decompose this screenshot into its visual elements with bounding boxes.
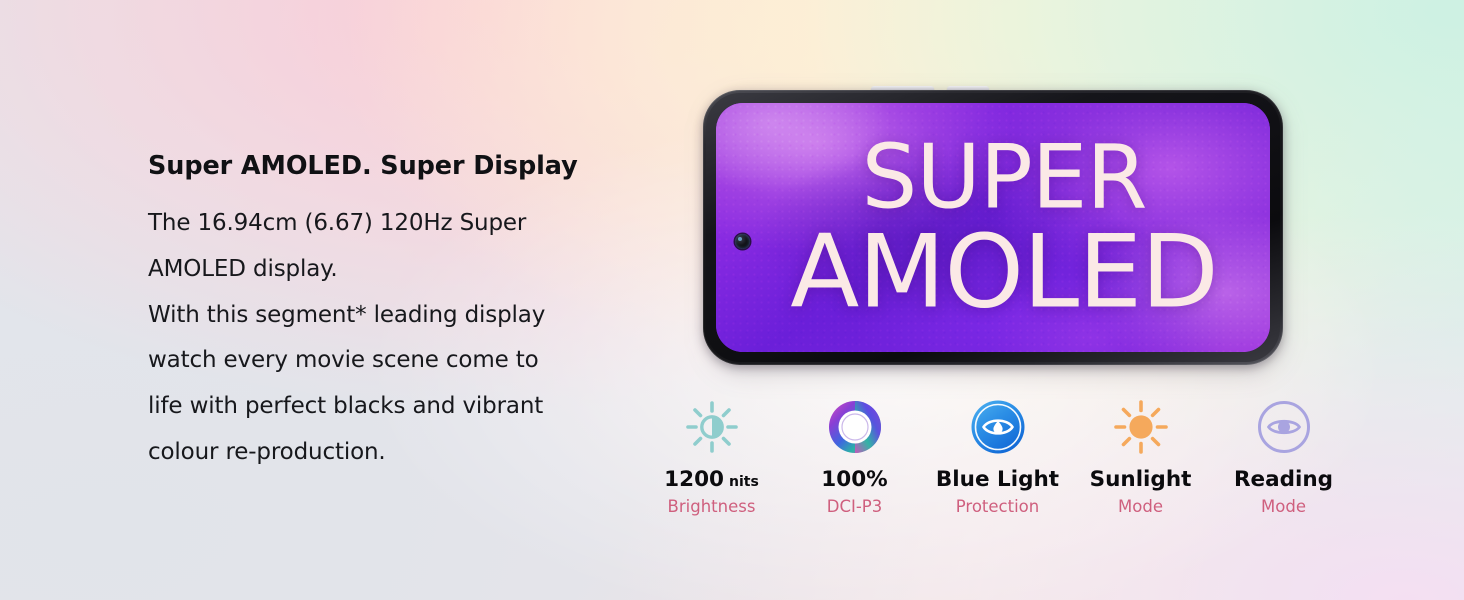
- feature-item-blue-light: Blue Light Protection: [926, 396, 1069, 515]
- body-line: watch every movie scene come to: [148, 338, 648, 384]
- screen-text-line-2: AMOLED: [738, 222, 1270, 321]
- feature-value-number: Sunlight: [1090, 469, 1192, 491]
- body-line: AMOLED display.: [148, 247, 648, 293]
- feature-item-reading: Reading Mode: [1212, 396, 1355, 515]
- feature-item-dci-p3: 100% DCI-P3: [783, 396, 926, 515]
- page-title: Super AMOLED. Super Display: [148, 152, 648, 180]
- feature-label: Protection: [956, 499, 1039, 516]
- banner-root: Super AMOLED. Super Display The 16.94cm …: [0, 0, 1464, 600]
- phone-chassis: SUPER AMOLED: [703, 90, 1283, 365]
- feature-label: Mode: [1261, 499, 1306, 516]
- brightness-sun-icon: [683, 396, 741, 458]
- feature-value: 1200 nits: [664, 469, 759, 491]
- feature-value-number: Reading: [1234, 469, 1333, 491]
- feature-label: Mode: [1118, 499, 1163, 516]
- feature-item-sunlight: Sunlight Mode: [1069, 396, 1212, 515]
- phone-bezel: SUPER AMOLED: [706, 93, 1280, 362]
- screen-text-line-1: SUPER: [738, 134, 1270, 220]
- blue-light-eye-icon: [970, 396, 1026, 458]
- phone-screen: SUPER AMOLED: [716, 103, 1270, 352]
- reading-eye-icon: [1256, 396, 1312, 458]
- body-line: colour re-production.: [148, 430, 648, 476]
- feature-item-brightness: 1200 nits Brightness: [640, 396, 783, 515]
- color-gamut-wheel-icon: [827, 396, 883, 458]
- feature-value: Blue Light: [936, 469, 1059, 491]
- feature-value: Reading: [1234, 469, 1333, 491]
- feature-value-number: Blue Light: [936, 469, 1059, 491]
- feature-list: 1200 nits Brightness: [640, 396, 1355, 536]
- feature-label: DCI-P3: [827, 499, 883, 516]
- body-line: The 16.94cm (6.67) 120Hz Super: [148, 201, 648, 247]
- body-line: life with perfect blacks and vibrant: [148, 384, 648, 430]
- screen-wallpaper-text: SUPER AMOLED: [716, 134, 1270, 321]
- feature-value-number: 1200: [664, 469, 724, 491]
- feature-value-number: 100%: [821, 469, 887, 491]
- body-line: With this segment* leading display: [148, 293, 648, 339]
- sunlight-sun-icon: [1112, 396, 1170, 458]
- copy-block: Super AMOLED. Super Display The 16.94cm …: [148, 152, 648, 476]
- feature-value: Sunlight: [1090, 469, 1192, 491]
- feature-value: 100%: [821, 469, 887, 491]
- feature-value-unit: nits: [729, 475, 759, 489]
- phone-device: SUPER AMOLED: [697, 84, 1289, 368]
- feature-label: Brightness: [668, 499, 756, 516]
- body-paragraph: The 16.94cm (6.67) 120Hz Super AMOLED di…: [148, 201, 648, 476]
